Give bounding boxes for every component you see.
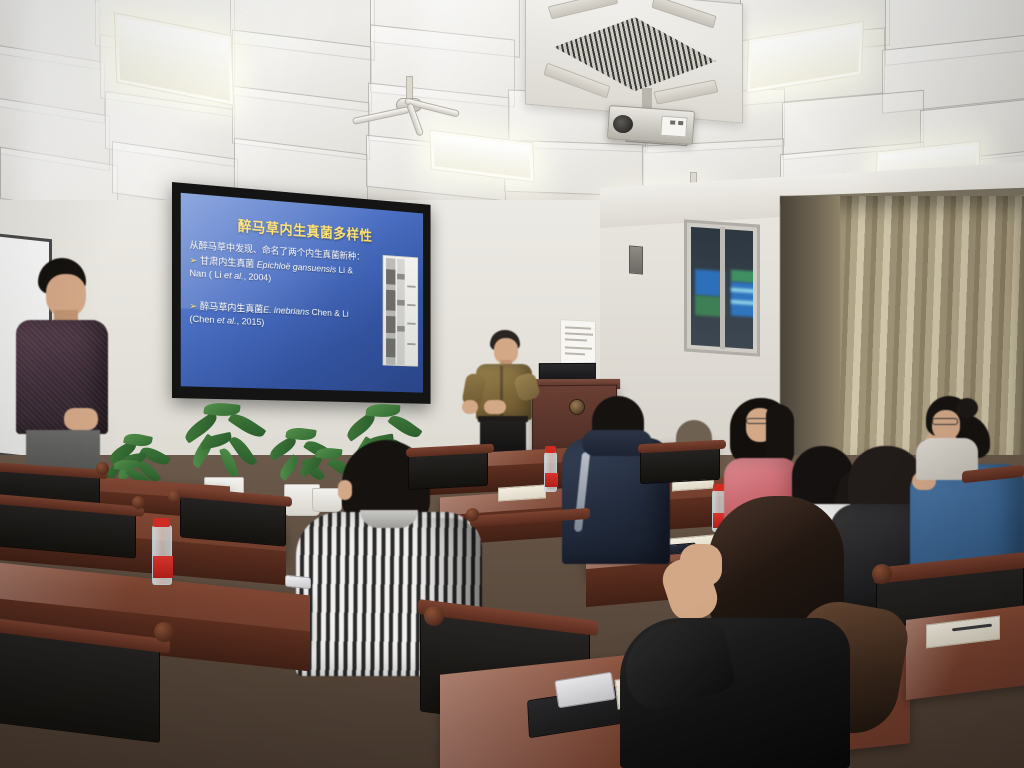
window-mullion xyxy=(720,227,725,349)
window xyxy=(684,219,760,356)
bottle-cap xyxy=(153,518,170,527)
water-bottle-front-left xyxy=(152,525,172,585)
projector xyxy=(607,105,695,145)
chair-knob xyxy=(168,490,181,503)
projector-lens xyxy=(612,114,633,133)
bullet-1-citation-post: , 2004) xyxy=(244,271,272,283)
ceiling-fan-rod xyxy=(406,76,413,100)
classroom-seminar-photo: 醉马草内生真菌多样性 从醉马草中发现、命名了两个内生真菌新种： ➢甘肃内生真菌 … xyxy=(0,0,1024,768)
bullet-2-authority: Chen & Li xyxy=(312,307,349,319)
wall-notice xyxy=(560,319,596,367)
presentation-slide: 醉马草内生真菌多样性 从醉马草中发现、命名了两个内生真菌新种： ➢甘肃内生真菌 … xyxy=(181,193,423,393)
chair-knob xyxy=(424,606,444,626)
bullet-2-citation-pre: (Chen xyxy=(189,314,217,326)
bullet-2-species: E. inebrians xyxy=(263,305,309,318)
bullet-2-citation-post: , 2015) xyxy=(237,316,265,328)
bullet-1-citation-italic: et al. xyxy=(224,270,244,282)
person-standing-man-left xyxy=(8,258,118,488)
person-foreground-ponytail-woman xyxy=(600,496,900,768)
ear xyxy=(338,480,352,500)
left-hand xyxy=(462,400,478,414)
hand xyxy=(680,544,722,586)
chair-knob xyxy=(96,462,109,475)
right-hand xyxy=(484,400,506,414)
glasses-icon xyxy=(932,418,958,425)
projection-screen: 醉马草内生真菌多样性 从醉马草中发现、命名了两个内生真菌新种： ➢甘肃内生真菌 … xyxy=(172,182,431,404)
hands xyxy=(64,408,98,430)
chair-knob xyxy=(132,496,145,509)
bullet-2-text-cn: 醉马草内生真菌 xyxy=(200,301,263,315)
face xyxy=(932,410,960,440)
sweater-collar xyxy=(360,510,418,528)
chair-knob xyxy=(154,622,174,642)
person-glasses-woman-back xyxy=(912,396,982,480)
bullet-2-citation-italic: et al. xyxy=(217,315,237,327)
chair-knob xyxy=(466,508,479,521)
bullet-marker-icon: ➢ xyxy=(189,301,197,312)
bottle-cap xyxy=(545,446,556,453)
ceiling-air-conditioner xyxy=(525,0,743,124)
bullet-marker-icon: ➢ xyxy=(189,255,197,266)
slide-bullet-2: ➢醉马草内生真菌E. inebrians Chen & Li (Chen et … xyxy=(189,301,362,334)
slide-gel-figure xyxy=(383,255,418,367)
bullet-1-citation-pre: ( Li xyxy=(209,269,224,281)
hair-bun xyxy=(956,398,978,418)
desk-right-foreground xyxy=(906,604,1024,700)
wall-speaker xyxy=(629,245,643,274)
